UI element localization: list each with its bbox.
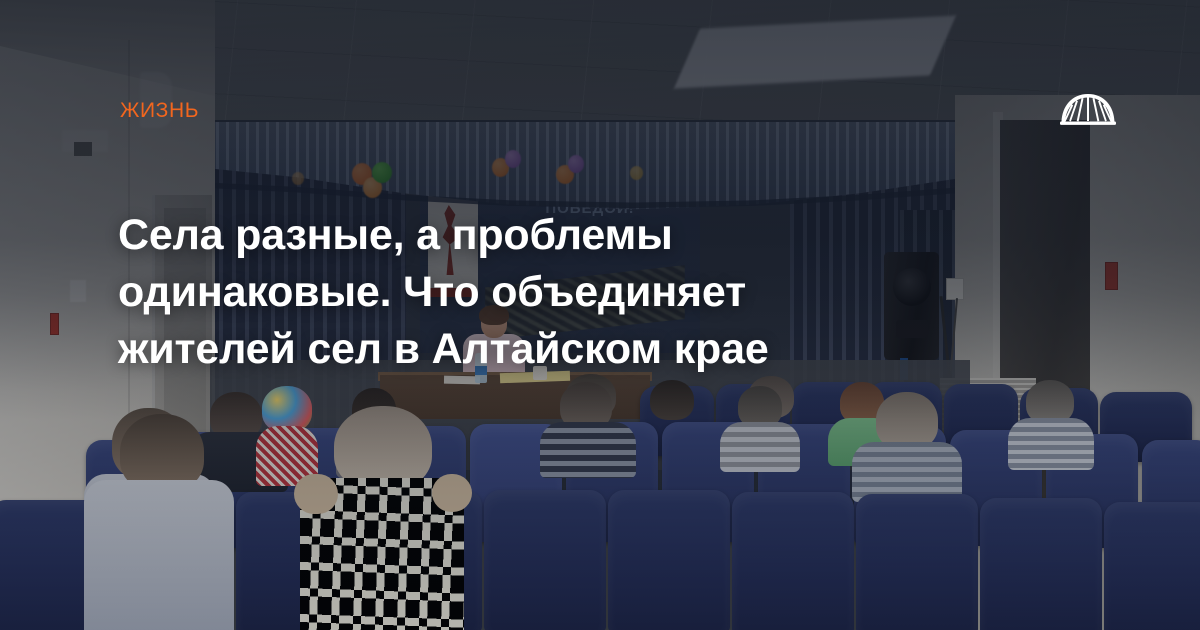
sunburst-fan-logo[interactable] xyxy=(1060,92,1116,126)
headline: Села разные, а проблемы одинаковые. Что … xyxy=(118,207,918,378)
headline-line-2: одинаковые. Что объединяет xyxy=(118,264,918,321)
headline-line-3: жителей сел в Алтайском крае xyxy=(118,321,918,378)
card-content: ЖИЗНЬ Села разные, а проблемы одинаковые xyxy=(0,0,1200,630)
category-kicker[interactable]: ЖИЗНЬ xyxy=(120,99,199,123)
headline-line-1: Села разные, а проблемы xyxy=(118,207,918,264)
article-social-card: ГОРДИМСЯПОБЕДОЙ! xyxy=(0,0,1200,630)
